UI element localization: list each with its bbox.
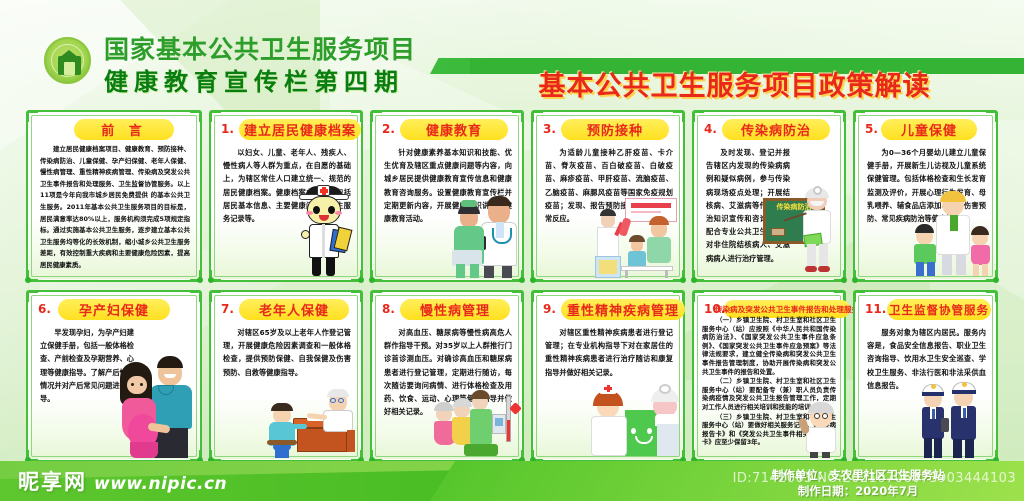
panel-title-text: 孕产妇保健 [79,300,149,319]
panel-child-health: 5. 儿童保健 为0—36个月婴幼儿建立儿童保健手册，开展新生儿访视及儿童系统保… [853,110,998,282]
elderly-consultation-illustration [267,388,359,458]
panel-body-text: 对辖区重性精神疾病患者进行登记管理；在专业机构指导下对在家居住的重性精神疾病患者… [545,326,673,379]
panel-title-pill: 预防接种 [561,119,669,140]
panel-title-text: 重性精神疾病管理 [567,300,679,319]
watermark-site-url: www.nipic.cn [94,474,227,494]
panel-title-text: 前 言 [101,120,147,139]
panel-number: 2. [382,122,395,136]
panel-title-text: 传染病防治 [741,120,811,139]
watermark-site-name: 昵享网 [18,466,87,496]
panel-title-pill: 健康教育 [400,119,508,140]
panel-body-text: 对辖区65岁及以上老年人作登记管理，开展健康危险因素调查和一般体格检查，提供预防… [223,326,351,379]
panel-body-text: 建立居民健康档案项目、健康教育、预防接种、传染病防治、儿童保健、孕产妇保健、老年… [40,144,190,272]
site-watermark: 昵享网 www.nipic.cn [18,466,227,496]
panel-title-text: 预防接种 [587,120,643,139]
poster-footer: 昵享网 www.nipic.cn 制作单位：支农里社区卫生服务站 制作日期：20… [0,461,1024,501]
panel-health-records: 1. 建立居民健康档案 以妇女、儿童、老年人、残疾人、慢性病人等人群为重点，在自… [209,110,363,282]
panel-body-text: 为适龄儿童接种乙肝疫苗、卡介苗、脊灰疫苗、百白破疫苗、白破疫苗、麻疹疫苗、甲肝疫… [545,146,673,225]
panel-row-top: 前 言 建立居民健康档案项目、健康教育、预防接种、传染病防治、儿童保健、孕产妇保… [26,110,998,282]
panel-body-text: 以妇女、儿童、老年人、残疾人、慢性病人等人群为重点，在自愿的基础上，为辖区常住人… [223,146,351,225]
panel-title-text: 慢性病管理 [420,300,490,319]
panel-preface: 前 言 建立居民健康档案项目、健康教育、预防接种、传染病防治、儿童保健、孕产妇保… [26,110,202,282]
panel-title-text: 卫生监督协管服务 [889,302,989,318]
national-health-program-logo-icon [44,37,91,84]
panel-health-education: 2. 健康教育 针对健康素养基本知识和技能、优生优育及辖区重点健康问题等内容，向… [370,110,524,282]
panel-title-pill: 慢性病管理 [400,299,510,320]
panel-infectious-disease: 4. 传染病防治 及时发现、登记并报告辖区内发现的传染病病例和疑似病例，参与传染… [692,110,846,282]
panel-number: 6. [38,302,51,316]
panel-body-text: 及时发现、登记并报告辖区内发现的传染病病例和疑似病例，参与传染病现场疫点处理；开… [706,146,790,265]
program-title: 国家基本公共卫生服务项目 [104,36,416,64]
panel-row-bottom: 6. 孕产妇保健 早发现孕妇，为孕产妇建立保健手册，包括一般体格检查、产前检查及… [26,290,998,462]
panel-title-pill: 孕产妇保健 [58,299,170,320]
poster-header: 国家基本公共卫生服务项目 健康教育宣传栏第四期 基本公共卫生服务项目政策解读 [0,0,1024,104]
program-subtitle: 健康教育宣传栏第四期 [104,68,404,96]
panel-number: 1. [221,122,234,136]
panel-title-text: 儿童保健 [901,120,957,139]
panel-title-bar: 前 言 [36,119,192,141]
panel-title-text: 老年人保健 [259,300,329,319]
nurse-doctor-cross-illustration [591,384,681,458]
image-id-watermark: ID:7142063 NO:20210706073903444103 [733,471,1016,486]
panel-number: 8. [382,302,395,316]
panel-outbreak-reporting: 10. 传染病及突发公共卫生事件报告和处理服务 （一）乡镇卫生院、村卫生室和社区… [692,290,846,462]
panel-number: 5. [865,122,878,136]
panel-elderly-health: 7. 老年人保健 对辖区65岁及以上老年人作登记管理，开展健康危险因素调查和一般… [209,290,363,462]
panel-title-pill: 前 言 [74,119,174,140]
panel-title-pill: 建立居民健康档案 [239,119,361,140]
panel-chronic-disease: 8. 慢性病管理 对高血压、糖尿病等慢性病高危人群作指导干预。对35岁以上人群推… [370,290,524,462]
panel-immunization: 3. 预防接种 为适龄儿童接种乙肝疫苗、卡介苗、脊灰疫苗、百白破疫苗、白破疫苗、… [531,110,685,282]
panel-title-pill: 卫生监督协管服务 [887,299,991,320]
panel-maternal-health: 6. 孕产妇保健 早发现孕妇，为孕产妇建立保健手册，包括一般体格检查、产前检查及… [26,290,202,462]
panel-number: 11. [865,302,886,316]
panel-body-text: 为0—36个月婴幼儿建立儿童保健手册，开展新生儿访视及儿童系统保健管理。包括体格… [867,146,986,225]
panel-body-text: 服务对象为辖区内居民。服务内容是，食品安全信息报告、职业卫生咨询指导、饮用水卫生… [867,326,986,392]
panel-title-text: 建立居民健康档案 [244,120,356,139]
panel-number: 9. [543,302,556,316]
panel-health-supervision: 11. 卫生监督协管服务 服务对象为辖区内居民。服务内容是，食品安全信息报告、职… [853,290,998,462]
panel-title-text: 健康教育 [426,120,482,139]
panel-severe-mental-illness: 9. 重性精神疾病管理 对辖区重性精神疾病患者进行登记管理；在专业机构指导下对在… [531,290,685,462]
panel-number: 3. [543,122,556,136]
panel-paragraph: （三）乡镇卫生院、村卫生室和社区卫生服务中心（站）要做好相关服务记录，《传染病报… [702,413,836,447]
panel-paragraph: （二）乡镇卫生院、村卫生室和社区卫生服务中心（站）要配备专（兼）职人员负责传染病… [702,377,836,411]
banner-title: 基本公共卫生服务项目政策解读 [462,72,1007,102]
panel-grid: 前 言 建立居民健康档案项目、健康教育、预防接种、传染病防治、儿童保健、孕产妇保… [26,110,998,462]
panel-number: 4. [704,122,717,136]
panel-title-text: 传染病及突发公共卫生事件报告和处理服务 [715,304,859,315]
panel-body-text: （一）乡镇卫生院、村卫生室和社区卫生服务中心（站）应按照《中华人民共和国传染病防… [702,316,836,448]
panel-title-pill: 重性精神疾病管理 [561,299,685,320]
panel-body-text: 早发现孕妇，为孕产妇建立保健手册，包括一般体格检查、产前检查及孕期营养、心理等健… [40,326,134,405]
panel-body-text: 针对健康素养基本知识和技能、优生优育及辖区重点健康问题等内容，向城乡居民提供健康… [384,146,512,225]
panel-body-text: 对高血压、糖尿病等慢性病高危人群作指导干预。对35岁以上人群推行门诊首诊测血压。… [384,326,512,418]
panel-title-pill: 老年人保健 [239,299,349,320]
panel-title-pill: 传染病防治 [722,119,830,140]
panel-paragraph: （一）乡镇卫生院、村卫生室和社区卫生服务中心（站）应按照《中华人民共和国传染病防… [702,316,836,376]
health-education-poster: 国家基本公共卫生服务项目 健康教育宣传栏第四期 基本公共卫生服务项目政策解读 前… [0,0,1024,501]
panel-number: 7. [221,302,234,316]
panel-title-pill: 儿童保健 [881,119,977,140]
